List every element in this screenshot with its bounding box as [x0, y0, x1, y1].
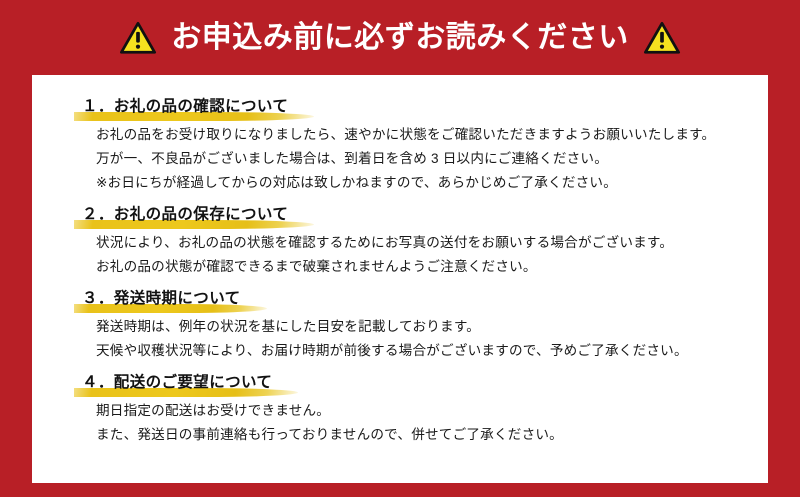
- warning-triangle-icon: [119, 21, 157, 55]
- section-heading: ３．発送時期について: [82, 289, 245, 312]
- section-body: 期日指定の配送はお受けできません。 また、発送日の事前連絡も行っておりませんので…: [82, 399, 734, 447]
- body-line: 状況により、お礼の品の状態を確認するためにお写真の送付をお願いする場合がございま…: [96, 231, 734, 255]
- notice-section: ３．発送時期について 発送時期は、例年の状況を基にした目安を記載しております。 …: [82, 289, 734, 363]
- body-line: 発送時期は、例年の状況を基にした目安を記載しております。: [96, 315, 734, 339]
- poster-header: お申込み前に必ずお読みください: [0, 0, 800, 75]
- section-body: 状況により、お礼の品の状態を確認するためにお写真の送付をお願いする場合がございま…: [82, 231, 734, 279]
- body-line: 万が一、不良品がございました場合は、到着日を含め 3 日以内にご連絡ください。: [96, 147, 734, 171]
- body-line: ※お日にちが経過してからの対応は致しかねますので、あらかじめご了承ください。: [96, 171, 734, 195]
- body-line: お礼の品の状態が確認できるまで破棄されませんようご注意ください。: [96, 255, 734, 279]
- body-line: お礼の品をお受け取りになりましたら、速やかに状態をご確認いただきますようお願いい…: [96, 123, 734, 147]
- notice-panel: １．お礼の品の確認について お礼の品をお受け取りになりましたら、速やかに状態をご…: [32, 75, 768, 483]
- section-heading: ２．お礼の品の保存について: [82, 205, 292, 228]
- notice-section: ２．お礼の品の保存について 状況により、お礼の品の状態を確認するためにお写真の送…: [82, 205, 734, 279]
- section-heading-label: ２．お礼の品の保存について: [82, 206, 288, 223]
- section-heading-label: ３．発送時期について: [82, 290, 241, 307]
- warning-triangle-icon: [643, 21, 681, 55]
- section-heading-label: ４．配送のご要望について: [82, 374, 272, 391]
- section-body: お礼の品をお受け取りになりましたら、速やかに状態をご確認いただきますようお願いい…: [82, 123, 734, 195]
- body-line: 期日指定の配送はお受けできません。: [96, 399, 734, 423]
- body-line: また、発送日の事前連絡も行っておりませんので、併せてご了承ください。: [96, 423, 734, 447]
- section-heading: １．お礼の品の確認について: [82, 97, 292, 120]
- page-title: お申込み前に必ずお読みください: [171, 23, 629, 53]
- body-line: 天候や収穫状況等により、お届け時期が前後する場合がございますので、予めご了承くだ…: [96, 339, 734, 363]
- notice-poster: お申込み前に必ずお読みください １．お礼の品の確認について お礼の品をお受け取り…: [0, 0, 800, 497]
- notice-section: １．お礼の品の確認について お礼の品をお受け取りになりましたら、速やかに状態をご…: [82, 97, 734, 195]
- section-body: 発送時期は、例年の状況を基にした目安を記載しております。 天候や収穫状況等により…: [82, 315, 734, 363]
- section-heading-label: １．お礼の品の確認について: [82, 98, 288, 115]
- notice-section: ４．配送のご要望について 期日指定の配送はお受けできません。 また、発送日の事前…: [82, 373, 734, 447]
- section-heading: ４．配送のご要望について: [82, 373, 276, 396]
